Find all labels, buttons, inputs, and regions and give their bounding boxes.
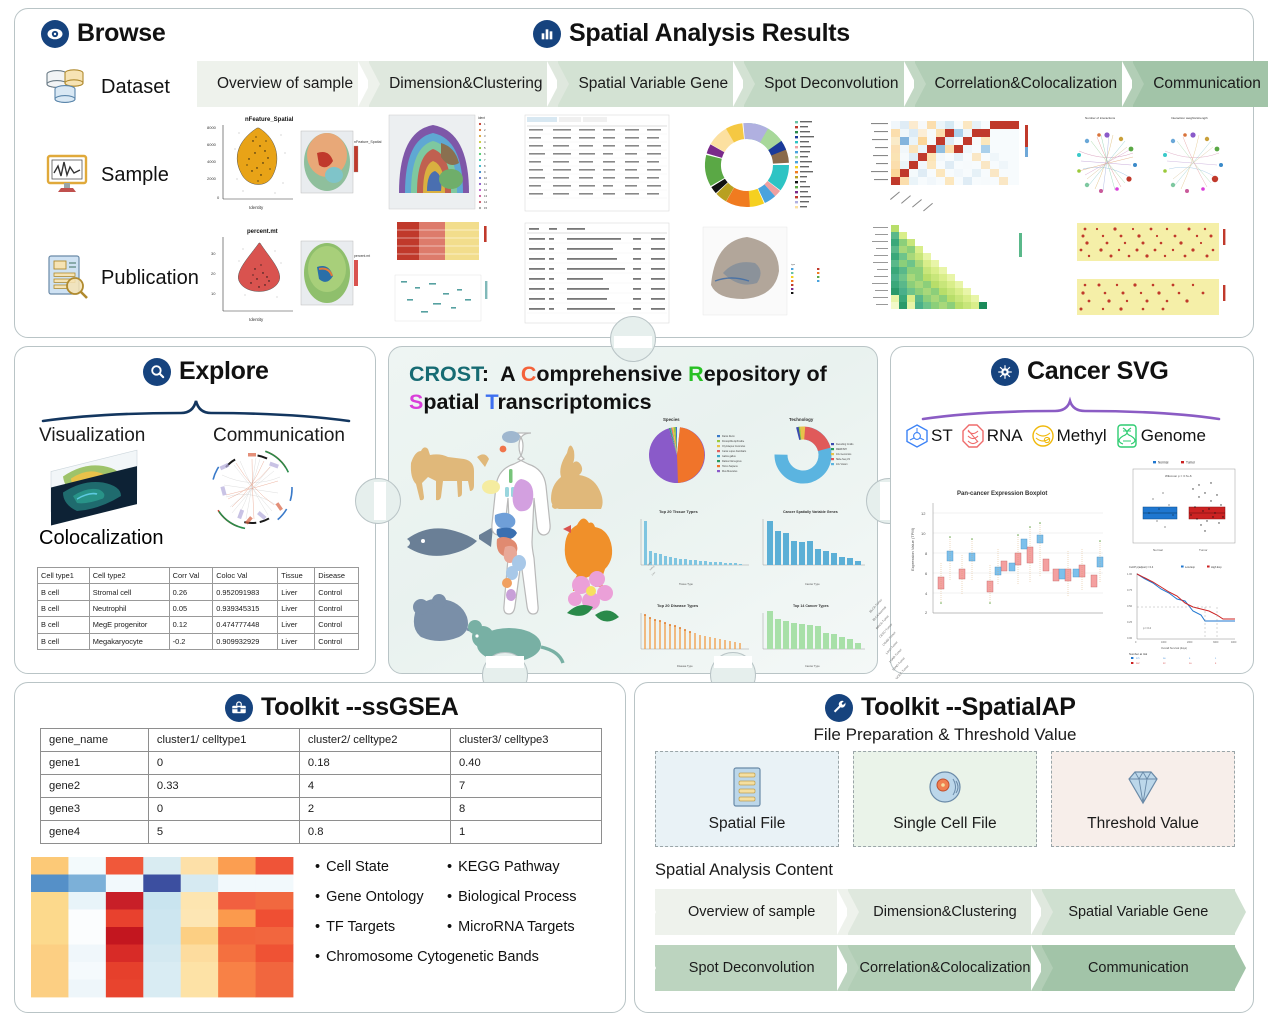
col-tissue: Tissue <box>278 568 315 584</box>
wrench-icon <box>825 694 853 722</box>
col-cell-type1: Cell type1 <box>38 568 90 584</box>
spatial-analysis-content-title: Spatial Analysis Content <box>655 861 833 880</box>
fish-icon <box>407 527 493 556</box>
omics-label: Methyl <box>1057 426 1107 446</box>
go-terms-table <box>521 221 673 325</box>
analysis-steps-row-2[interactable]: Spot Deconvolution Correlation&Colocaliz… <box>655 945 1235 991</box>
cluster-spatial-plot: ident 1 2 3 4 5 6 7 8 9 10 11 12 13 14 1… <box>385 113 503 213</box>
cell: 0 <box>148 752 299 775</box>
svg-text:16: 16 <box>1163 658 1166 660</box>
category-gene-ontology: Gene Ontology <box>315 889 447 905</box>
svg-text:15: 15 <box>484 206 488 210</box>
svg-results-table <box>521 113 673 213</box>
svg-text:0.25: 0.25 <box>1127 620 1133 624</box>
svg-text:5: 5 <box>484 146 486 150</box>
cell: gene2 <box>41 775 149 798</box>
cell: 0.05 <box>169 600 213 616</box>
expression-scatter-boxplot: NormalTumor Wilcoxon p = 3.7e-6 NormalTu… <box>1119 459 1243 559</box>
svg-text:7: 7 <box>484 158 486 162</box>
correlation-heatmap-diverging <box>869 115 1041 211</box>
ligand-receptor-dotplot-1 <box>1063 219 1245 271</box>
dotplot-thumbnail <box>385 273 503 325</box>
omics-label: Genome <box>1141 426 1206 446</box>
file-label: Spatial File <box>709 815 786 833</box>
table-row: B cellMegakaryocyte-0.20.909932929LiverC… <box>38 633 359 649</box>
cell-communication-circos: Number of interactions Interaction weigh… <box>1063 113 1245 213</box>
explore-title: Explore <box>179 357 269 386</box>
tab-overview-of-sample[interactable]: Overview of sample <box>197 61 369 107</box>
omics-rna[interactable]: RNA <box>961 423 1023 449</box>
cell: Liver <box>278 633 315 649</box>
svg-text:267: 267 <box>1136 663 1140 665</box>
ssgsea-header: Toolkit --ssGSEA <box>225 693 459 722</box>
species-pie-chart <box>649 427 705 483</box>
bar-chart-icon <box>533 20 561 48</box>
cell: 0.40 <box>450 752 601 775</box>
cell: 0.952091983 <box>213 584 278 600</box>
svg-text:Liver: Liver <box>652 572 657 577</box>
tab-label: Spot Deconvolution <box>764 75 898 93</box>
omics-st[interactable]: ST <box>905 423 953 449</box>
svg-text:1000: 1000 <box>1161 641 1167 644</box>
step-dimension-clustering[interactable]: Dimension&Clustering <box>848 889 1041 935</box>
sidebar-item-label: Sample <box>101 164 169 187</box>
boxplot-title: Pan-cancer Expression Boxplot <box>957 491 1047 497</box>
svg-text:4: 4 <box>925 591 928 596</box>
svg-text:4000: 4000 <box>1231 641 1237 644</box>
svg-text:0: 0 <box>217 195 220 200</box>
spatialap-header: Toolkit --SpatialAP <box>825 693 1076 722</box>
svg-text:6: 6 <box>484 152 486 156</box>
ligand-receptor-dotplot-2 <box>1063 275 1245 325</box>
col-gene-name: gene_name <box>41 729 149 752</box>
cell: Liver <box>278 600 315 616</box>
cell: 0.12 <box>169 617 213 633</box>
svg-text:Number of interactions: Number of interactions <box>1085 116 1116 120</box>
svg-text:30: 30 <box>211 251 216 256</box>
table-row: B cellMegE progenitor0.120.474777448Live… <box>38 617 359 633</box>
table-row: B cellStromal cell0.260.952091983LiverCo… <box>38 584 359 600</box>
omics-genome[interactable]: Genome <box>1115 423 1206 449</box>
cell: Liver <box>278 584 315 600</box>
tab-spatial-variable-gene[interactable]: Spatial Variable Gene <box>558 61 744 107</box>
svg-text:type: type <box>791 263 796 266</box>
svg-text:Cancer Type: Cancer Type <box>805 582 820 586</box>
svg-text:14: 14 <box>484 200 488 204</box>
cell: 5 <box>148 821 299 844</box>
svg-text:Normal: Normal <box>1153 548 1163 552</box>
cell: -0.2 <box>169 633 213 649</box>
cell: 0.909932929 <box>213 633 278 649</box>
sidebar-item-sample[interactable]: Sample <box>43 149 169 202</box>
spatial-results-title: Spatial Analysis Results <box>569 19 850 48</box>
rabbit-icon <box>551 445 603 509</box>
cell: 7 <box>450 775 601 798</box>
step-correlation-colocalization[interactable]: Correlation&Colocalization <box>848 945 1041 991</box>
omics-label: RNA <box>987 426 1023 446</box>
svg-text:Disease Type: Disease Type <box>677 664 693 668</box>
svg-text:8: 8 <box>484 164 486 168</box>
flower-icon <box>567 571 619 622</box>
spatialap-title: Toolkit --SpatialAP <box>861 693 1076 722</box>
violin-title: percent.mt <box>247 229 278 235</box>
step-spot-deconvolution[interactable]: Spot Deconvolution <box>655 945 848 991</box>
svg-text:Danio Rerio: Danio Rerio <box>722 435 735 438</box>
tab-label: Dimension&Clustering <box>389 75 542 93</box>
svg-text:Top 20 Disease Types: Top 20 Disease Types <box>657 603 699 608</box>
svg-text:Wilcoxon p = 3.7e-6: Wilcoxon p = 3.7e-6 <box>1165 474 1192 478</box>
svg-text:3: 3 <box>1215 663 1217 665</box>
svg-text:10: 10 <box>211 291 216 296</box>
cell: 0.26 <box>169 584 213 600</box>
svg-text:1: 1 <box>484 122 486 126</box>
knob-mask <box>374 482 386 520</box>
svg-text:MERFISH: MERFISH <box>836 448 847 451</box>
cell: 0 <box>148 798 299 821</box>
file-label: Threshold Value <box>1087 815 1199 833</box>
explore-brace-divider <box>41 399 351 423</box>
svg-text:Gallus gallus: Gallus gallus <box>722 455 736 458</box>
svg-text:1: 1 <box>1215 658 1217 660</box>
correlation-heatmap-triangular <box>869 219 1041 325</box>
svg-text:2: 2 <box>925 610 928 615</box>
cell: 0.939345315 <box>213 600 278 616</box>
browse-header: Browse <box>41 19 166 48</box>
omics-label: ST <box>931 426 953 446</box>
svg-text:10x Visium: 10x Visium <box>836 463 848 466</box>
col-cell-type2: Cell type2 <box>89 568 169 584</box>
svg-text:CuCP p(adjust) = 0.4: CuCP p(adjust) = 0.4 <box>1129 565 1154 569</box>
table-row: B cellNeutrophil0.050.939345315LiverCont… <box>38 600 359 616</box>
cell: Control <box>315 584 359 600</box>
col-coloc-val: Coloc Val <box>213 568 278 584</box>
survival-pvalue: p = 0.4 <box>1143 626 1152 630</box>
cancer-svg-bar-chart: Cancer Spatially Variable Genes Cancer T… <box>763 510 865 586</box>
sidebar-item-label: Dataset <box>101 76 170 99</box>
boxplot-ylabel: Expression Value (TPM) <box>910 527 915 571</box>
svg-text:4000: 4000 <box>207 159 217 164</box>
species-chart-title: Species <box>663 417 680 422</box>
toolkit-spatialap-panel: Toolkit --SpatialAP File Preparation & T… <box>634 682 1254 1013</box>
table-row: gene450.81 <box>41 821 602 844</box>
ssgsea-title: Toolkit --ssGSEA <box>261 693 459 722</box>
database-icon <box>43 61 91 114</box>
table-header-row: gene_name cluster1/ celltype1 cluster2/ … <box>41 729 602 752</box>
cell: B cell <box>38 600 90 616</box>
spatial-file-box[interactable]: Spatial File <box>655 751 839 847</box>
technology-donut-chart <box>776 428 829 481</box>
svg-text:Oryzolepus Cuniculus: Oryzolepus Cuniculus <box>722 445 746 448</box>
spatial-file-icon <box>727 765 767 809</box>
step-communication[interactable]: Communication <box>1042 945 1235 991</box>
toolbox-icon <box>225 694 253 722</box>
deconvolution-donut-chart <box>695 117 847 213</box>
cell: gene1 <box>41 752 149 775</box>
col-cluster2: cluster2/ celltype2 <box>299 729 450 752</box>
tab-label: Communication <box>1153 75 1261 93</box>
tab-communication[interactable]: Communication <box>1133 61 1268 107</box>
step-spatial-variable-gene[interactable]: Spatial Variable Gene <box>1042 889 1235 935</box>
explore-header: Explore <box>143 357 269 386</box>
svg-text:Low Exp: Low Exp <box>1185 565 1196 569</box>
svg-text:3: 3 <box>484 134 486 138</box>
category-chromosome-bands: Chromosome Cytogenetic Bands <box>315 949 615 965</box>
cell: Stromal cell <box>89 584 169 600</box>
cell: B cell <box>38 584 90 600</box>
svg-text:3000: 3000 <box>1213 641 1219 644</box>
cell: Neutrophil <box>89 600 169 616</box>
table-row: gene100.180.40 <box>41 752 602 775</box>
svg-text:0.00: 0.00 <box>1127 636 1133 640</box>
knob-mask <box>614 336 652 348</box>
document-search-icon <box>43 252 91 305</box>
hexagon-st-icon <box>905 423 929 449</box>
cancer-svg-title: Cancer SVG <box>1027 357 1169 386</box>
svg-text:8000: 8000 <box>207 125 217 130</box>
spatialap-subtitle: File Preparation & Threshold Value <box>635 725 1255 745</box>
svg-text:Slide-Seq V2: Slide-Seq V2 <box>836 458 851 461</box>
colocalization-label: Colocalization <box>39 527 164 550</box>
monitor-waveform-icon <box>43 149 91 202</box>
cell: Liver <box>278 617 315 633</box>
cell: gene3 <box>41 798 149 821</box>
svg-text:4: 4 <box>484 140 486 144</box>
cell: B cell <box>38 633 90 649</box>
single-cell-icon <box>925 765 965 809</box>
cell: gene4 <box>41 821 149 844</box>
svg-text:1.00: 1.00 <box>1127 572 1133 576</box>
center-overview-panel: CROST: A Comprehensive Repository of Spa… <box>388 346 878 674</box>
knob-mask <box>714 656 752 668</box>
3d-visualization-thumbnail <box>37 447 157 525</box>
octagon-rna-icon <box>961 423 985 449</box>
tab-correlation-colocalization[interactable]: Correlation&Colocalization <box>915 61 1134 107</box>
violin-legend-title: percent.mt <box>354 254 370 258</box>
svg-text:Kidney: Kidney <box>650 566 656 572</box>
col-disease: Disease <box>315 568 359 584</box>
svg-text:Cancer Type: Cancer Type <box>805 664 820 668</box>
visualization-label: Visualization <box>39 425 145 447</box>
svg-text:Decoding Cnidis: Decoding Cnidis <box>836 443 854 446</box>
sidebar-item-dataset[interactable]: Dataset <box>43 61 170 114</box>
communication-circos-thumbnail <box>193 442 311 537</box>
svg-text:Tumor: Tumor <box>1186 461 1196 465</box>
violin-legend-title: nFeature_Spatial <box>354 140 382 144</box>
svg-text:0.50: 0.50 <box>1127 604 1133 608</box>
tab-dimension-clustering[interactable]: Dimension&Clustering <box>369 61 558 107</box>
violin-plot-percentmt: percent.mt 302010 Identity percent.mt <box>197 225 367 325</box>
survival-curve-plot: CuCP p(adjust) = 0.4Low ExpHigh Exp 1.00… <box>1119 563 1243 665</box>
magnifier-icon <box>143 358 171 386</box>
table-header-row: Cell type1 Cell type2 Corr Val Coloc Val… <box>38 568 359 584</box>
svg-text:20: 20 <box>211 271 216 276</box>
svg-text:2000: 2000 <box>207 176 217 181</box>
svg-text:Drosophila Aphrodite: Drosophila Aphrodite <box>722 440 745 443</box>
explore-panel: Explore Visualization Communication <box>14 346 376 674</box>
virus-icon <box>991 358 1019 386</box>
knob-mask <box>486 656 524 668</box>
cell: Control <box>315 617 359 633</box>
category-cell-state: Cell State <box>315 859 447 875</box>
risk-label: Number at risk <box>1129 652 1148 656</box>
spatial-results-header: Spatial Analysis Results <box>533 19 850 48</box>
svg-text:Mus Musculus: Mus Musculus <box>722 470 738 473</box>
threshold-value-box[interactable]: Threshold Value <box>1051 751 1235 847</box>
violin-plot-nfeature: nFeature_Spatial 80006000 40002000 0 Ide… <box>197 113 367 213</box>
cancer-svg-panel: Cancer SVG ST RNA Methyl Genome Pan-canc… <box>890 346 1254 674</box>
deconvolution-spatial-map: type <box>695 223 847 323</box>
browse-thumbnails: nFeature_Spatial 80006000 40002000 0 Ide… <box>197 113 1245 328</box>
cell: 4 <box>299 775 450 798</box>
cell: 0.474777448 <box>213 617 278 633</box>
svg-text:2000: 2000 <box>1187 641 1193 644</box>
table-row: gene20.3347 <box>41 775 602 798</box>
crost-title: CROST: A Comprehensive Repository of Spa… <box>409 361 849 416</box>
circle-methyl-icon <box>1031 423 1055 449</box>
svg-text:High Exp: High Exp <box>1211 565 1222 569</box>
svg-text:Canis Lupus Familiaris: Canis Lupus Familiaris <box>722 450 747 453</box>
ssgsea-table: gene_name cluster1/ celltype1 cluster2/ … <box>40 728 602 844</box>
tissue-bar-chart: Top 20 Tissue Types BrainKidneyLiver Tis… <box>641 509 749 586</box>
human-body-diagram <box>482 431 550 614</box>
svg-text:Normal: Normal <box>1158 461 1169 465</box>
svg-text:12: 12 <box>484 188 488 192</box>
single-cell-file-box[interactable]: Single Cell File <box>853 751 1037 847</box>
svg-text:2: 2 <box>484 128 486 132</box>
category-kegg-pathway: KEGG Pathway <box>447 859 615 875</box>
svg-text:0: 0 <box>1135 641 1137 644</box>
col-cluster1: cluster1/ celltype1 <box>148 729 299 752</box>
svg-text:5: 5 <box>1189 658 1191 660</box>
cancer-types-bar-chart: Top 14 Cancer Types Cancer Type <box>763 604 865 668</box>
cell: 0.33 <box>148 775 299 798</box>
species-illustration <box>399 417 629 667</box>
svg-text:13: 13 <box>484 194 488 198</box>
svg-text:22: 22 <box>1163 663 1166 665</box>
col-cluster3: cluster3/ celltype3 <box>450 729 601 752</box>
browse-title: Browse <box>77 19 166 48</box>
svg-text:10: 10 <box>921 531 926 536</box>
analysis-steps-row-1[interactable]: Overview of sample Dimension&Clustering … <box>655 889 1235 935</box>
svg-text:Rattus Norvegicus: Rattus Norvegicus <box>722 460 742 463</box>
svg-text:12: 12 <box>921 511 926 516</box>
omics-methyl[interactable]: Methyl <box>1031 423 1107 449</box>
cancer-svg-header: Cancer SVG <box>991 357 1169 386</box>
cell: Control <box>315 600 359 616</box>
cell: Megakaryocyte <box>89 633 169 649</box>
cell: 0.18 <box>299 752 450 775</box>
colocalization-table: Cell type1 Cell type2 Corr Val Coloc Val… <box>37 567 359 650</box>
svg-text:Interaction weights/strength: Interaction weights/strength <box>1171 116 1208 120</box>
svg-text:Tissue Type: Tissue Type <box>679 582 693 586</box>
category-microrna-targets: MicroRNA Targets <box>447 919 615 935</box>
cancer-brace-divider <box>921 399 1221 421</box>
survival-xlabel: Overall Survival (days) <box>1161 646 1187 650</box>
gene-set-categories: Cell State Gene Ontology TF Targets KEGG… <box>315 859 615 979</box>
dog-icon <box>411 447 489 500</box>
cell: 2 <box>299 798 450 821</box>
file-preparation-row: Spatial File Single Cell File Threshold … <box>655 751 1235 847</box>
cell: 0.8 <box>299 821 450 844</box>
cell: B cell <box>38 617 90 633</box>
cluster-legend-title: ident <box>478 116 485 120</box>
svg-text:10: 10 <box>1189 663 1192 665</box>
svg-text:0.75: 0.75 <box>1127 588 1133 592</box>
violin-xlabel: Identity <box>249 205 264 210</box>
toolkit-ssgsea-panel: Toolkit --ssGSEA gene_name cluster1/ cel… <box>14 682 626 1013</box>
tab-spot-deconvolution[interactable]: Spot Deconvolution <box>744 61 914 107</box>
file-label: Single Cell File <box>893 815 996 833</box>
pan-cancer-boxplot: Pan-cancer Expression Boxplot 12108642 E… <box>905 485 1113 663</box>
omics-types-row: ST RNA Methyl Genome <box>905 423 1245 449</box>
cell: MegE progenitor <box>89 617 169 633</box>
svg-text:Top 20 Tissue Types: Top 20 Tissue Types <box>659 509 698 514</box>
cluster-heatmap <box>385 218 503 268</box>
ssgsea-heatmap <box>31 857 293 997</box>
svg-text:271: 271 <box>1136 658 1140 660</box>
svg-text:10: 10 <box>484 176 488 180</box>
violin-title: nFeature_Spatial <box>245 117 294 123</box>
summary-charts: Species Danio Rerio Drosophila Aphrodite… <box>617 413 873 669</box>
svg-text:6: 6 <box>925 571 928 576</box>
svg-text:Top 14 Cancer Types: Top 14 Cancer Types <box>793 604 829 608</box>
sidebar-item-label: Publication <box>101 267 199 290</box>
svg-text:8: 8 <box>925 551 928 556</box>
browse-panel: Browse Spatial Analysis Results <box>14 8 1254 338</box>
col-corr-val: Corr Val <box>169 568 213 584</box>
table-row: gene3028 <box>41 798 602 821</box>
svg-text:9: 9 <box>484 170 486 174</box>
diamond-icon <box>1121 765 1165 809</box>
category-biological-process: Biological Process <box>447 889 615 905</box>
svg-text:Homo Sapiens: Homo Sapiens <box>722 465 738 468</box>
svg-text:6000: 6000 <box>207 142 217 147</box>
step-overview-of-sample[interactable]: Overview of sample <box>655 889 848 935</box>
tab-label: Overview of sample <box>217 75 353 93</box>
tab-label: Spatial Variable Gene <box>578 75 728 93</box>
svg-text:Cancer Spatially Variable Gene: Cancer Spatially Variable Genes <box>783 510 838 514</box>
category-tf-targets: TF Targets <box>315 919 447 935</box>
analysis-tabs[interactable]: Overview of sample Dimension&Clustering … <box>197 61 1245 107</box>
cell: Control <box>315 633 359 649</box>
technology-chart-title: Technology <box>789 417 814 422</box>
dna-genome-icon <box>1115 423 1139 449</box>
svg-text:11: 11 <box>484 182 487 186</box>
sidebar-item-publication[interactable]: Publication <box>43 252 199 305</box>
cell: 8 <box>450 798 601 821</box>
svg-text:Tumor: Tumor <box>1199 548 1208 552</box>
violin-xlabel: Identity <box>249 317 264 322</box>
eye-icon <box>41 20 69 48</box>
svg-text:10x Genomics: 10x Genomics <box>836 453 852 456</box>
tab-label: Correlation&Colocalization <box>935 75 1118 93</box>
cell: 1 <box>450 821 601 844</box>
